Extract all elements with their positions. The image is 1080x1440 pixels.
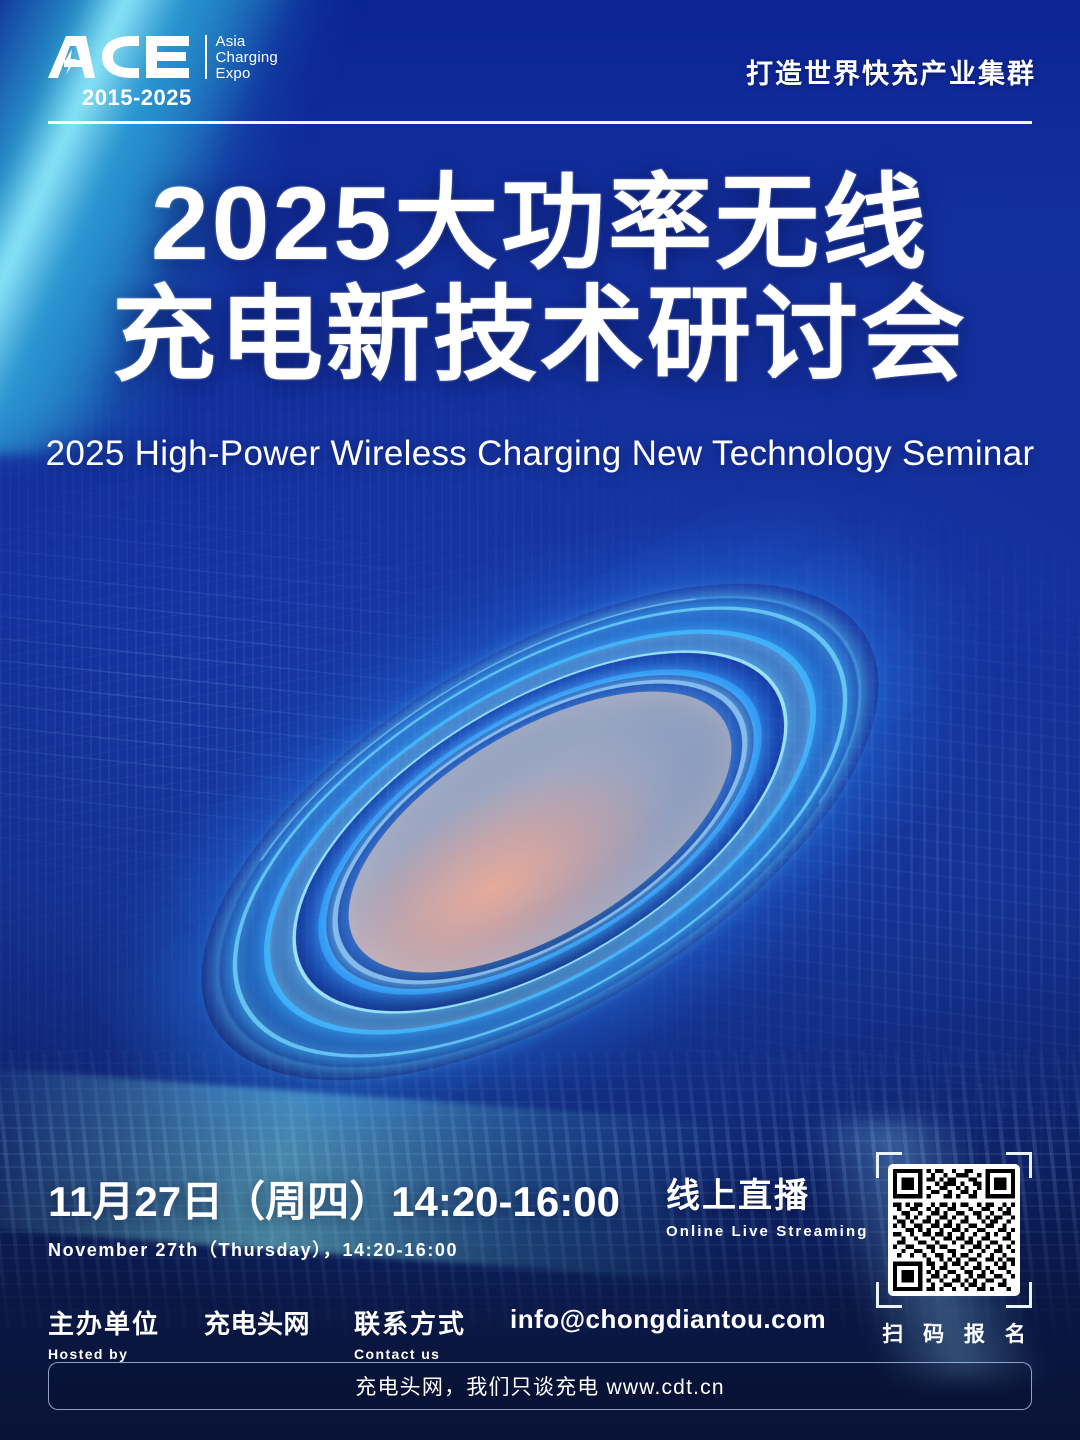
title-line-1: 2025大功率无线 (0, 168, 1080, 280)
footer-bar: 充电头网，我们只谈充电 www.cdt.cn (48, 1362, 1032, 1410)
header-divider-rule (48, 121, 1032, 124)
contact-label-col: 联系方式 Contact us (354, 1304, 466, 1362)
logo-years: 2015-2025 (82, 85, 278, 111)
footer-text: 充电头网，我们只谈充电 www.cdt.cn (355, 1371, 724, 1401)
qr-code-block[interactable] (876, 1152, 1032, 1308)
logo-divider (205, 35, 207, 79)
live-streaming-chinese: 线上直播 (666, 1168, 868, 1217)
header-tagline: 打造世界快充产业集群 (746, 52, 1036, 91)
host-value-col: 充电头网 (204, 1304, 310, 1341)
contact-label-english: Contact us (354, 1346, 466, 1362)
host-label-english: Hosted by (48, 1346, 160, 1362)
title-line-2: 充电新技术研讨会 (0, 280, 1080, 392)
title-block: 2025大功率无线 充电新技术研讨会 (0, 168, 1080, 393)
qr-code-image (893, 1169, 1015, 1291)
logo-line-asia: Asia (216, 34, 278, 50)
contact-label-chinese: 联系方式 (354, 1304, 466, 1341)
host-name: 充电头网 (204, 1304, 310, 1341)
host-label-col: 主办单位 Hosted by (48, 1304, 160, 1362)
ace-logo[interactable]: Asia Charging Expo 2015-2025 (46, 32, 278, 111)
organizer-contact-row: 主办单位 Hosted by 充电头网 联系方式 Contact us info… (48, 1304, 870, 1362)
title-subtitle-english: 2025 High-Power Wireless Charging New Te… (0, 434, 1080, 474)
qr-code-label: 扫 码 报 名 (868, 1318, 1040, 1348)
logo-line-charging: Charging (216, 50, 278, 66)
ace-wordmark (46, 32, 196, 82)
contact-value-col: info@chongdiantou.com (510, 1304, 826, 1335)
host-label-chinese: 主办单位 (48, 1304, 160, 1341)
qr-code-card[interactable] (888, 1164, 1020, 1296)
poster-header: Asia Charging Expo 2015-2025 打造世界快充产业集群 (0, 0, 1080, 140)
poster-canvas: Asia Charging Expo 2015-2025 打造世界快充产业集群 … (0, 0, 1080, 1440)
logo-line-expo: Expo (216, 66, 278, 82)
live-streaming-english: Online Live Streaming (666, 1223, 868, 1240)
live-streaming-block: 线上直播 Online Live Streaming (666, 1168, 868, 1240)
contact-email[interactable]: info@chongdiantou.com (510, 1304, 826, 1335)
logo-subtext: Asia Charging Expo (216, 32, 278, 81)
